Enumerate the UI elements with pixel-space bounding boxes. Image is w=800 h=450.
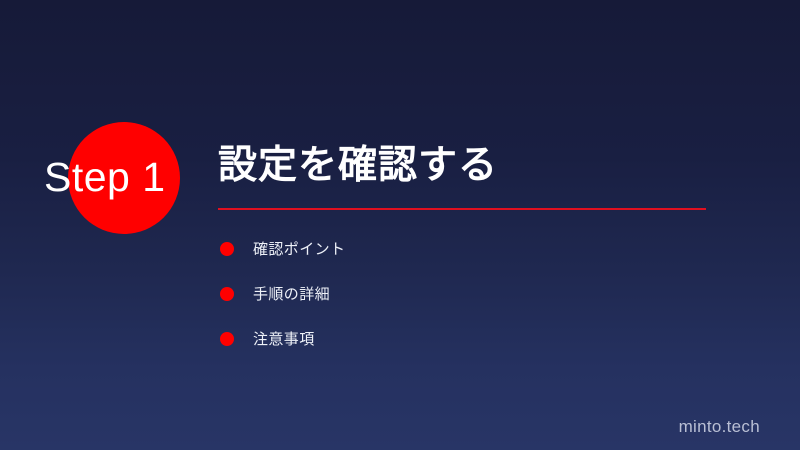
bullet-item-label: 確認ポイント <box>253 238 345 259</box>
title-underline-rule <box>218 208 706 210</box>
step-label: Step 1 <box>44 151 204 203</box>
title-block: 設定を確認する <box>218 142 706 210</box>
list-item: 確認ポイント <box>220 238 345 259</box>
slide-canvas: Step 1 設定を確認する 確認ポイント 手順の詳細 注意事項 minto.t… <box>0 0 800 450</box>
bullet-item-label: 注意事項 <box>253 328 315 349</box>
bullet-dot-icon <box>220 332 234 346</box>
bullet-item-label: 手順の詳細 <box>253 283 330 304</box>
bullet-list: 確認ポイント 手順の詳細 注意事項 <box>220 238 345 373</box>
list-item: 手順の詳細 <box>220 283 345 304</box>
bullet-dot-icon <box>220 287 234 301</box>
bullet-dot-icon <box>220 242 234 256</box>
list-item: 注意事項 <box>220 328 345 349</box>
footer-brand: minto.tech <box>679 417 760 437</box>
slide-title: 設定を確認する <box>218 142 706 190</box>
